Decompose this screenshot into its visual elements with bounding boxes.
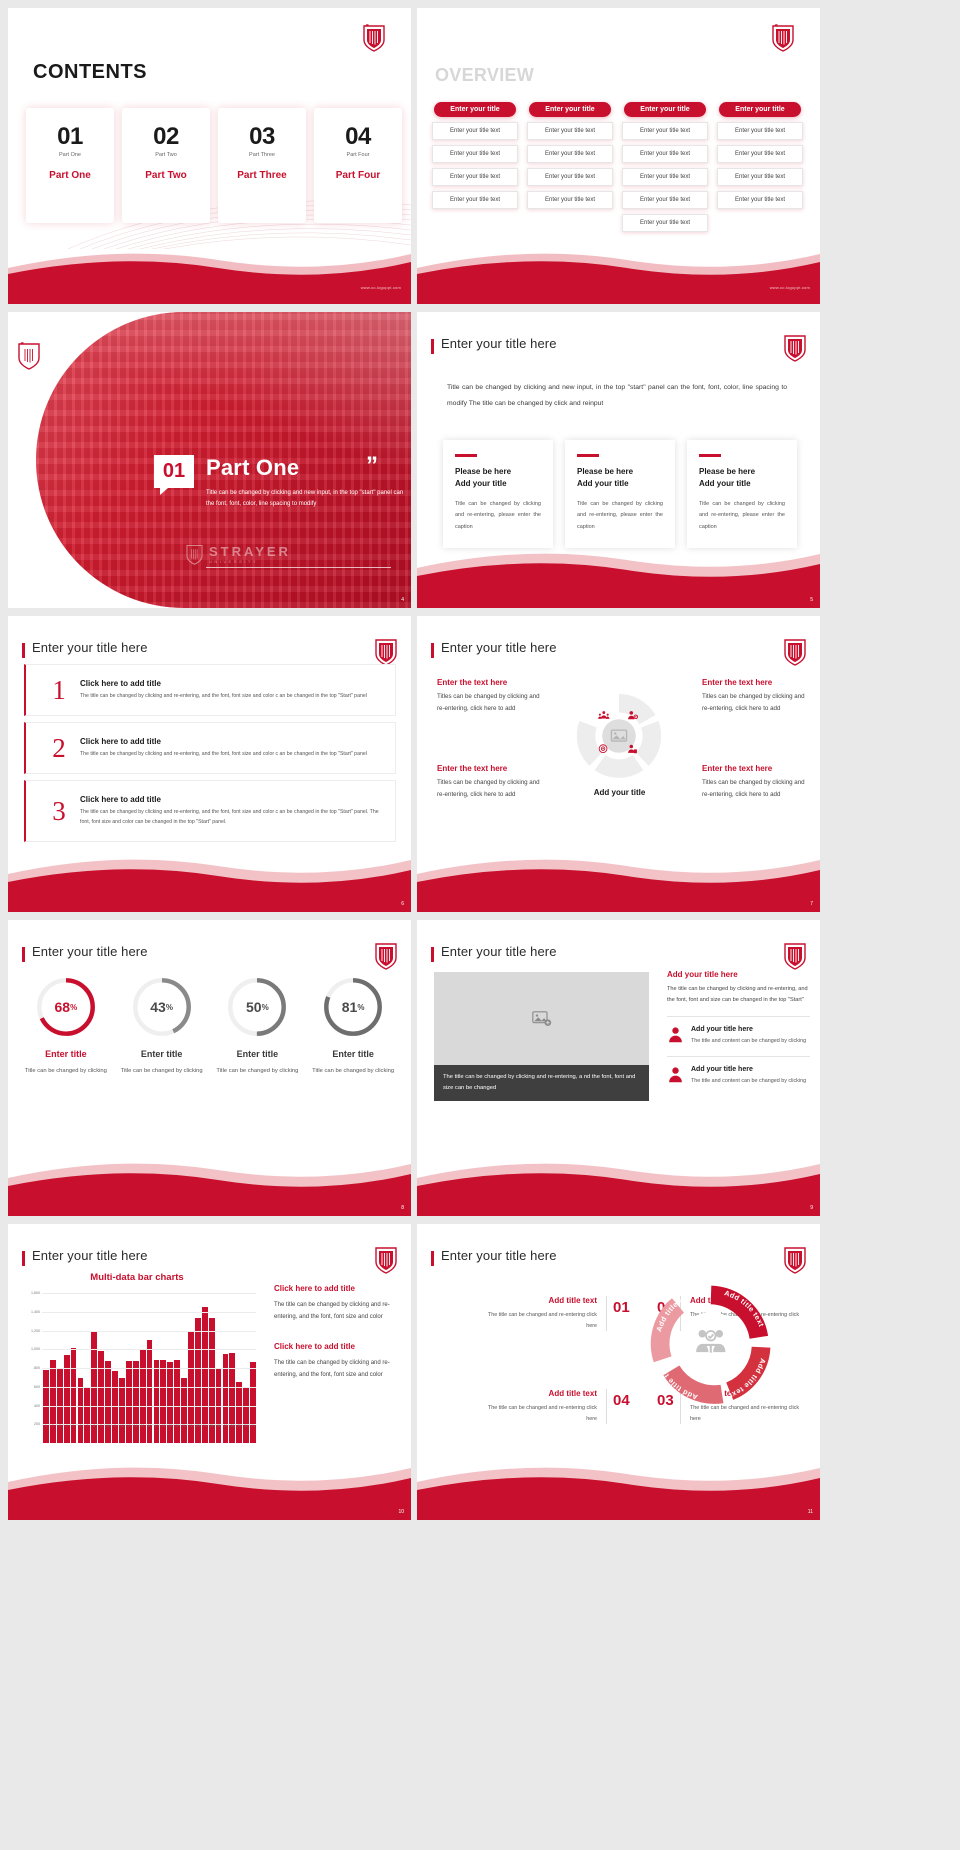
diagram-caption: Add your title (567, 788, 672, 797)
overview-column: Enter your title Enter your title text E… (621, 102, 709, 232)
gridline (42, 1331, 256, 1332)
bar[interactable] (105, 1361, 111, 1444)
list-item[interactable]: 3 Click here to add title The title can … (24, 780, 396, 842)
list-item-body: The title and content can be changed by … (691, 1036, 806, 1046)
column-cell[interactable]: Enter your title text (527, 191, 613, 209)
x-tick-label: 30 (243, 1424, 249, 1428)
donut-segment-4 (586, 724, 596, 759)
title-accent-bar (431, 1251, 434, 1266)
list-item-title: Add your title here (691, 1026, 806, 1033)
cycle-number-01: 01 (613, 1299, 630, 1316)
bar[interactable] (236, 1382, 242, 1443)
list-item-title: Add your title here (691, 1066, 806, 1073)
progress-ring: 68% (35, 976, 97, 1038)
wave-footer (417, 1154, 820, 1216)
donut-segment-2 (642, 724, 652, 759)
x-tick-label: 10 (105, 1424, 111, 1428)
x-tick-label: 14 (133, 1424, 139, 1428)
kpi-item[interactable]: 50% Enter title Title can be changed by … (210, 976, 306, 1078)
kpi-label: Enter title (18, 1049, 114, 1059)
column-pill-button[interactable]: Enter your title (624, 102, 706, 117)
label-body: The title can be changed and re-entering… (487, 1310, 597, 1331)
x-tick-label: 24 (202, 1424, 208, 1428)
person-icon (667, 1026, 684, 1043)
slide-overview[interactable]: OVERVIEW Enter your title Enter your tit… (417, 8, 820, 304)
note-body: The title can be changed by clicking and… (274, 1357, 402, 1382)
cycle-label-01[interactable]: Add title text The title can be changed … (487, 1296, 607, 1331)
diagram-label-bottom-right[interactable]: Enter the text here Titles can be change… (702, 764, 806, 801)
chart-plot-area: 1,6001,4001,2001,000800600400200 (16, 1293, 258, 1443)
column-cell[interactable]: Enter your title text (432, 145, 518, 163)
y-tick-label: 1,400 (16, 1310, 40, 1314)
title-accent-bar (431, 643, 434, 658)
x-tick-label: 12 (119, 1424, 125, 1428)
person-icon (667, 1066, 684, 1083)
image-placeholder[interactable] (434, 972, 649, 1065)
x-tick-label: 5 (71, 1424, 77, 1428)
strayer-shield-logo-icon (772, 24, 794, 52)
label-body: Titles can be changed by clicking and re… (702, 691, 806, 715)
contents-card[interactable]: 01 Part One Part One (26, 108, 114, 223)
column-cell[interactable]: Enter your title text (717, 168, 803, 186)
card-number: 02 (122, 125, 210, 149)
kpi-value: 43 (150, 999, 166, 1015)
card-accent-dash (699, 454, 721, 457)
kpi-item[interactable]: 68% Enter title Title can be changed by … (18, 976, 114, 1078)
slide-bar-chart[interactable]: Enter your title here Multi-data bar cha… (8, 1224, 411, 1520)
gridline (42, 1406, 256, 1407)
gridline (42, 1387, 256, 1388)
column-cell[interactable]: Enter your title text (717, 122, 803, 140)
item-title: Click here to add title (80, 795, 387, 804)
bar[interactable] (50, 1360, 56, 1443)
column-cell[interactable]: Enter your title text (527, 122, 613, 140)
slide-cycle-diagram[interactable]: Enter your title here Add title text The… (417, 1224, 820, 1520)
chart-side-notes: Click here to add title The title can be… (274, 1284, 402, 1381)
bar[interactable] (112, 1371, 118, 1443)
list-container: 1 Click here to add title The title can … (24, 664, 396, 848)
label-heading: Enter the text here (702, 678, 806, 687)
card-label: Part One (26, 170, 114, 181)
bar[interactable] (174, 1360, 180, 1443)
item-body: The title can be changed by clicking and… (80, 808, 387, 827)
strayer-shield-logo-icon (375, 942, 397, 970)
gridline (42, 1368, 256, 1369)
column-cell[interactable]: Enter your title text (622, 122, 708, 140)
x-tick-label: 22 (188, 1424, 194, 1428)
wave-footer (8, 1154, 411, 1216)
column-cell[interactable]: Enter your title text (432, 191, 518, 209)
x-tick-label: 11 (112, 1424, 118, 1428)
bar[interactable] (133, 1361, 139, 1444)
label-title: Add title text (487, 1389, 597, 1398)
overview-columns: Enter your title Enter your title text E… (431, 102, 804, 232)
footer-url: www.co.logoppt.com (361, 285, 401, 290)
page-number: 5 (810, 597, 813, 603)
label-body: Titles can be changed by clicking and re… (437, 777, 541, 801)
item-number: 2 (38, 735, 80, 762)
bar-chart: Multi-data bar charts 1,6001,4001,2001,0… (16, 1272, 258, 1477)
overview-column: Enter your title Enter your title text E… (716, 102, 804, 232)
contents-card[interactable]: 04 Part Four Part Four (314, 108, 402, 223)
section-number-badge: 01 (154, 455, 194, 488)
bar[interactable] (202, 1307, 208, 1443)
kpi-label: Enter title (305, 1049, 401, 1059)
x-tick-label: 29 (236, 1424, 242, 1428)
bar[interactable] (78, 1378, 84, 1443)
x-tick-label: 4 (64, 1424, 70, 1428)
kpi-unit: % (70, 1003, 77, 1012)
page-number: 7 (810, 901, 813, 907)
bar[interactable] (167, 1362, 173, 1443)
person-target-icon (599, 745, 607, 753)
diagram-label-top-right[interactable]: Enter the text here Titles can be change… (702, 678, 806, 715)
bar[interactable] (250, 1362, 256, 1443)
x-tick-label: 28 (229, 1424, 235, 1428)
university-watermark: STRAYER UNIVERSITY (186, 544, 291, 565)
info-card[interactable]: Please be hereAdd your title Title can b… (687, 440, 797, 548)
label-heading: Enter the text here (437, 678, 541, 687)
label-title: Add title text (487, 1296, 597, 1305)
kpi-item[interactable]: 81% Enter title Title can be changed by … (305, 976, 401, 1078)
card-title-line1: Please be here (699, 467, 755, 476)
title-accent-bar (22, 947, 25, 962)
wave-footer (417, 242, 820, 304)
quote-mark: ” (366, 452, 378, 480)
list-item[interactable]: Add your title here The title and conten… (667, 1016, 810, 1046)
strayer-shield-logo-icon (784, 942, 806, 970)
bar[interactable] (119, 1378, 125, 1443)
column-cell[interactable]: Enter your title text (622, 191, 708, 209)
item-title: Click here to add title (80, 737, 387, 746)
strayer-shield-logo-icon (784, 638, 806, 666)
page-title: Enter your title here (441, 336, 557, 351)
list-item-body: The title and content can be changed by … (691, 1076, 806, 1086)
x-tick-label: 16 (147, 1424, 153, 1428)
cycle-number-04: 04 (613, 1392, 630, 1409)
x-tick-label: 17 (154, 1424, 160, 1428)
page-title: CONTENTS (33, 61, 147, 84)
x-tick-label: 1 (43, 1424, 49, 1428)
card-title-line2: Add your title (455, 479, 507, 488)
card-number: 03 (218, 125, 306, 149)
label-heading: Enter the text here (702, 764, 806, 773)
strayer-shield-logo-icon (18, 342, 40, 370)
university-sub: UNIVERSITY (209, 559, 291, 564)
y-tick-label: 1,600 (16, 1291, 40, 1295)
x-tick-label: 20 (174, 1424, 180, 1428)
label-body: The title can be changed and re-entering… (487, 1403, 597, 1424)
label-body: Titles can be changed by clicking and re… (702, 777, 806, 801)
card-label: Part Two (122, 170, 210, 181)
page-number: 9 (810, 1205, 813, 1211)
card-accent-dash (455, 454, 477, 457)
bar[interactable] (43, 1370, 49, 1443)
x-tick-label: 6 (78, 1424, 84, 1428)
kpi-unit: % (166, 1003, 173, 1012)
page-number: 8 (401, 1205, 404, 1211)
card-sub: Part Three (218, 152, 306, 158)
side-paragraph: The title can be changed by clicking and… (667, 984, 810, 1006)
label-heading: Enter the text here (437, 764, 541, 773)
x-tick-label: 7 (84, 1424, 90, 1428)
wave-footer (8, 1458, 411, 1520)
column-cell[interactable]: Enter your title text (717, 145, 803, 163)
wave-footer (417, 546, 820, 608)
slide-contents[interactable]: CONTENTS 01 Part One Part One 02 Part Tw… (8, 8, 411, 304)
card-number: 01 (26, 125, 114, 149)
info-card[interactable]: Please be hereAdd your title Title can b… (565, 440, 675, 548)
column-cell[interactable]: Enter your title text (432, 168, 518, 186)
card-title-line1: Please be here (455, 467, 511, 476)
slide-circular-diagram[interactable]: Enter your title here Enter the text her… (417, 616, 820, 912)
bar[interactable] (98, 1351, 104, 1443)
bar[interactable] (140, 1350, 146, 1443)
university-name: STRAYER (209, 545, 291, 559)
kpi-body: Title can be changed by clicking (305, 1066, 401, 1078)
column-cell[interactable]: Enter your title text (432, 122, 518, 140)
page-title: Enter your title here (441, 944, 557, 959)
overview-column: Enter your title Enter your title text E… (431, 102, 519, 232)
title-accent-bar (22, 1251, 25, 1266)
item-title: Click here to add title (80, 679, 387, 688)
column-cell[interactable]: Enter your title text (527, 145, 613, 163)
gridline (42, 1293, 256, 1294)
item-number: 1 (38, 677, 80, 704)
diagram-label-top-left[interactable]: Enter the text here Titles can be change… (437, 678, 541, 715)
wave-footer (8, 850, 411, 912)
chart-title: Multi-data bar charts (16, 1272, 258, 1283)
bar[interactable] (154, 1360, 160, 1443)
x-axis-labels: 1234567891011121314151617181920212223242… (43, 1424, 256, 1428)
kpi-item[interactable]: 43% Enter title Title can be changed by … (114, 976, 210, 1078)
bar[interactable] (229, 1353, 235, 1443)
image-caption: The title can be changed by clicking and… (434, 1065, 649, 1101)
diagram-label-bottom-left[interactable]: Enter the text here Titles can be change… (437, 764, 541, 801)
x-tick-label: 8 (91, 1424, 97, 1428)
campus-photo: 01 Part One ” Title can be changed by cl… (36, 312, 411, 608)
column-pill-button[interactable]: Enter your title (434, 102, 516, 117)
column-pill-button[interactable]: Enter your title (529, 102, 611, 117)
note-heading: Click here to add title (274, 1284, 402, 1293)
card-list: Please be hereAdd your title Title can b… (443, 440, 797, 548)
column-cell[interactable]: Enter your title text (527, 168, 613, 186)
x-tick-label: 18 (160, 1424, 166, 1428)
x-tick-label: 21 (181, 1424, 187, 1428)
slide-section-part-one[interactable]: 01 Part One ” Title can be changed by cl… (8, 312, 411, 608)
card-title-line1: Please be here (577, 467, 633, 476)
x-tick-label: 19 (167, 1424, 173, 1428)
card-number: 04 (314, 125, 402, 149)
note-body: The title can be changed by clicking and… (274, 1299, 402, 1324)
donut-segment-3 (600, 763, 638, 769)
column-cell[interactable]: Enter your title text (622, 214, 708, 232)
slide-image-and-list[interactable]: Enter your title here The title can be c… (417, 920, 820, 1216)
strayer-shield-logo-icon (363, 24, 385, 52)
contents-card-list: 01 Part One Part One 02 Part Two Part Tw… (26, 108, 402, 223)
title-accent-bar (431, 339, 434, 354)
note-heading: Click here to add title (274, 1342, 402, 1351)
slide-percentage-rings[interactable]: Enter your title here 68% Enter title Ti… (8, 920, 411, 1216)
column-cell[interactable]: Enter your title text (717, 191, 803, 209)
card-title-line2: Add your title (699, 479, 751, 488)
y-tick-label: 600 (16, 1385, 40, 1389)
x-tick-label: 27 (223, 1424, 229, 1428)
kpi-label: Enter title (114, 1049, 210, 1059)
x-tick-label: 3 (57, 1424, 63, 1428)
item-body: The title can be changed by clicking and… (80, 750, 387, 760)
bar[interactable] (126, 1361, 132, 1444)
cycle-label-04[interactable]: Add title text The title can be changed … (487, 1389, 607, 1424)
x-tick-label: 15 (140, 1424, 146, 1428)
card-sub: Part One (26, 152, 114, 158)
x-tick-label: 26 (216, 1424, 222, 1428)
x-tick-label: 31 (250, 1424, 256, 1428)
donut-diagram[interactable] (577, 694, 661, 778)
image-placeholder-icon (532, 1010, 552, 1027)
x-tick-label: 9 (98, 1424, 104, 1428)
strayer-shield-logo-icon (375, 1246, 397, 1274)
kpi-body: Title can be changed by clicking (210, 1066, 306, 1078)
kpi-label: Enter title (210, 1049, 306, 1059)
page-number: 10 (398, 1509, 404, 1515)
kpi-list: 68% Enter title Title can be changed by … (18, 976, 401, 1078)
card-title-line2: Add your title (577, 479, 629, 488)
page-title: Enter your title here (441, 640, 557, 655)
card-label: Part Three (218, 170, 306, 181)
x-tick-label: 23 (195, 1424, 201, 1428)
page-number: 4 (401, 597, 404, 603)
page-title: OVERVIEW (435, 65, 534, 86)
wave-footer (417, 1458, 820, 1520)
y-tick-label: 1,200 (16, 1329, 40, 1333)
slide-numbered-list[interactable]: Enter your title here 1 Click here to ad… (8, 616, 411, 912)
intro-paragraph: Title can be changed by clicking and new… (447, 380, 787, 411)
kpi-unit: % (357, 1003, 364, 1012)
bar[interactable] (71, 1348, 77, 1443)
gridline (42, 1312, 256, 1313)
info-card[interactable]: Please be hereAdd your title Title can b… (443, 440, 553, 548)
cycle-arrow-ring[interactable]: Add title text Add title text Add title … (645, 1279, 777, 1411)
progress-ring: 81% (322, 976, 384, 1038)
x-tick-label: 2 (50, 1424, 56, 1428)
item-number: 3 (38, 798, 80, 825)
section-title: Part One (206, 455, 299, 481)
kpi-body: Title can be changed by clicking (18, 1066, 114, 1078)
card-body: Title can be changed by clicking and re-… (455, 499, 541, 534)
section-body: Title can be changed by clicking and new… (206, 488, 406, 511)
y-tick-label: 1,000 (16, 1347, 40, 1351)
overview-column: Enter your title Enter your title text E… (526, 102, 614, 232)
bar[interactable] (181, 1378, 187, 1443)
bar[interactable] (243, 1388, 249, 1443)
footer-url: www.co.logoppt.com (770, 285, 810, 290)
card-sub: Part Two (122, 152, 210, 158)
strayer-shield-logo-icon (784, 1246, 806, 1274)
card-body: Title can be changed by clicking and re-… (699, 499, 785, 534)
column-pill-button[interactable]: Enter your title (719, 102, 801, 117)
y-tick-label: 800 (16, 1366, 40, 1370)
list-item[interactable]: 1 Click here to add title The title can … (24, 664, 396, 716)
bar[interactable] (160, 1360, 166, 1443)
page-title: Enter your title here (32, 944, 148, 959)
y-tick-label: 400 (16, 1404, 40, 1408)
slide-deck: CONTENTS 01 Part One Part One 02 Part Tw… (0, 0, 960, 1528)
kpi-value: 50 (246, 999, 262, 1015)
column-cell[interactable]: Enter your title text (622, 145, 708, 163)
kpi-body: Title can be changed by clicking (114, 1066, 210, 1078)
contents-card[interactable]: 02 Part Two Part Two (122, 108, 210, 223)
gridline (42, 1349, 256, 1350)
card-sub: Part Four (314, 152, 402, 158)
page-title: Enter your title here (441, 1248, 557, 1263)
wave-footer (417, 850, 820, 912)
page-title: Enter your title here (32, 640, 148, 655)
strayer-shield-logo-icon (784, 334, 806, 362)
kpi-value: 81 (342, 999, 358, 1015)
bar[interactable] (84, 1387, 90, 1443)
strayer-shield-logo-icon (375, 638, 397, 666)
divider (206, 567, 391, 568)
progress-ring: 50% (226, 976, 288, 1038)
slide-three-cards[interactable]: Enter your title here Title can be chang… (417, 312, 820, 608)
item-body: The title can be changed by clicking and… (80, 692, 387, 702)
y-tick-label: 200 (16, 1422, 40, 1426)
list-item[interactable]: 2 Click here to add title The title can … (24, 722, 396, 774)
wave-footer (8, 242, 411, 304)
card-body: Title can be changed by clicking and re-… (577, 499, 663, 534)
card-label: Part Four (314, 170, 402, 181)
page-number: 11 (808, 1509, 813, 1515)
kpi-value: 68 (55, 999, 71, 1015)
contents-card[interactable]: 03 Part Three Part Three (218, 108, 306, 223)
shield-watermark-icon (186, 544, 203, 565)
side-content: Add your title here The title can be cha… (667, 970, 810, 1086)
x-tick-label: 13 (126, 1424, 132, 1428)
x-tick-label: 25 (209, 1424, 215, 1428)
title-accent-bar (431, 947, 434, 962)
label-body: Titles can be changed by clicking and re… (437, 691, 541, 715)
side-heading: Add your title here (667, 970, 810, 979)
progress-ring: 43% (131, 976, 193, 1038)
column-cell[interactable]: Enter your title text (622, 168, 708, 186)
page-number: 6 (401, 901, 404, 907)
card-accent-dash (577, 454, 599, 457)
list-item[interactable]: Add your title here The title and conten… (667, 1056, 810, 1086)
page-title: Enter your title here (32, 1248, 148, 1263)
kpi-unit: % (262, 1003, 269, 1012)
title-accent-bar (22, 643, 25, 658)
group-people-icon (598, 711, 609, 719)
